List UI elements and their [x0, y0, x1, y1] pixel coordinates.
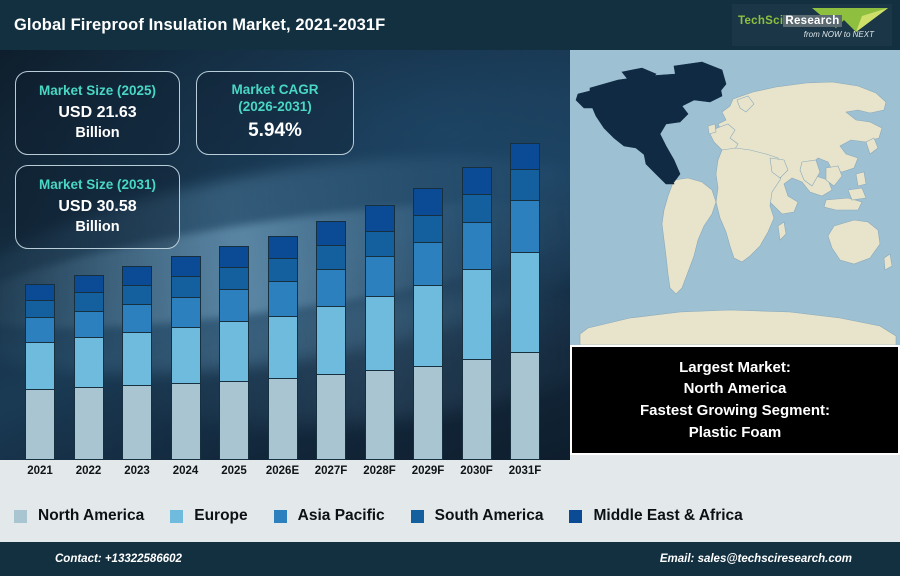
bar-segment-asia-pacific: [122, 304, 152, 333]
bar-segment-middle-east-africa: [268, 236, 298, 258]
bar-2022[interactable]: [74, 275, 104, 460]
bar-segment-north-america: [462, 359, 492, 460]
bar-segment-middle-east-africa: [510, 143, 540, 169]
bar-segment-south-america: [268, 258, 298, 281]
bar-segment-south-america: [365, 231, 395, 256]
legend-item-middle-east-africa[interactable]: Middle East & Africa: [569, 507, 742, 525]
bar-segment-north-america: [316, 374, 346, 460]
bar-segment-south-america: [122, 285, 152, 304]
bar-segment-europe: [268, 316, 298, 379]
callout-line-4: Plastic Foam: [689, 422, 782, 444]
brand-logo: TechSciResearch from NOW to NEXT: [732, 4, 892, 46]
brand-name-tech: TechSci: [738, 15, 783, 27]
bar-segment-europe: [510, 252, 540, 353]
bar-segment-north-america: [219, 381, 249, 460]
bar-segment-europe: [316, 306, 346, 374]
bar-2027F[interactable]: [316, 221, 346, 460]
legend-label: South America: [435, 507, 544, 525]
bar-segment-north-america: [268, 378, 298, 460]
bar-segment-north-america: [413, 366, 443, 460]
kpi-value: USD 30.58: [58, 197, 136, 218]
bar-segment-south-america: [413, 215, 443, 242]
bar-segment-north-america: [365, 370, 395, 460]
legend-swatch-icon: [14, 510, 27, 523]
bar-segment-middle-east-africa: [462, 167, 492, 194]
legend-swatch-icon: [274, 510, 287, 523]
callout-line-1: Largest Market:: [679, 357, 791, 379]
bar-segment-south-america: [510, 169, 540, 199]
bar-segment-south-america: [171, 276, 201, 297]
bar-segment-europe: [74, 337, 104, 387]
callout-line-3: Fastest Growing Segment:: [640, 400, 830, 422]
insight-callout: Largest Market: North America Fastest Gr…: [570, 345, 900, 455]
legend-label: Europe: [194, 507, 247, 525]
chart-legend: North AmericaEuropeAsia PacificSouth Ame…: [0, 490, 900, 542]
kpi-value: 5.94%: [248, 119, 302, 144]
x-axis-labels: 202120222023202420252026E2027F2028F2029F…: [0, 460, 570, 490]
bar-2030F[interactable]: [462, 167, 492, 460]
brand-wordmark: TechSciResearch: [738, 15, 842, 27]
legend-item-asia-pacific[interactable]: Asia Pacific: [274, 507, 385, 525]
kpi-unit: Billion: [75, 124, 119, 143]
footer-contact: Contact: +13322586602: [0, 553, 182, 565]
bar-segment-middle-east-africa: [219, 246, 249, 267]
bar-segment-asia-pacific: [25, 317, 55, 341]
bar-segment-south-america: [316, 245, 346, 269]
bar-2025[interactable]: [219, 246, 249, 460]
bar-segment-europe: [462, 269, 492, 359]
bar-2024[interactable]: [171, 256, 201, 460]
legend-item-north-america[interactable]: North America: [14, 507, 144, 525]
map-british-isles: [708, 124, 716, 134]
bar-segment-south-america: [462, 194, 492, 222]
bar-segment-middle-east-africa: [171, 256, 201, 276]
kpi-label: Market Size (2031): [39, 177, 156, 193]
bar-2021[interactable]: [25, 284, 55, 460]
page-title: Global Fireproof Insulation Market, 2021…: [0, 16, 385, 35]
kpi-label: Market Size (2025): [39, 83, 156, 99]
bar-segment-europe: [365, 296, 395, 370]
bar-segment-europe: [25, 342, 55, 389]
bar-segment-north-america: [122, 385, 152, 460]
bar-segment-asia-pacific: [74, 311, 104, 337]
bar-segment-south-america: [219, 267, 249, 289]
bar-segment-asia-pacific: [365, 256, 395, 296]
footer-bar: Contact: +13322586602 Email: sales@techs…: [0, 542, 900, 576]
footer-email: Email: sales@techsciresearch.com: [660, 553, 900, 565]
axis-label-2031F: 2031F: [495, 465, 555, 477]
bar-segment-middle-east-africa: [74, 275, 104, 292]
kpi-market-size-2025: Market Size (2025) USD 21.63 Billion: [15, 71, 180, 155]
bar-segment-middle-east-africa: [413, 188, 443, 215]
bar-segment-asia-pacific: [268, 281, 298, 316]
infographic-page: Global Fireproof Insulation Market, 2021…: [0, 0, 900, 576]
bar-segment-europe: [219, 321, 249, 380]
legend-label: Middle East & Africa: [593, 507, 742, 525]
legend-label: Asia Pacific: [298, 507, 385, 525]
bar-segment-asia-pacific: [510, 200, 540, 252]
bar-2031F[interactable]: [510, 143, 540, 460]
kpi-market-cagr: Market CAGR (2026-2031) 5.94%: [196, 71, 354, 155]
bar-segment-asia-pacific: [462, 222, 492, 269]
bar-2029F[interactable]: [413, 188, 443, 460]
world-map: [570, 50, 900, 345]
bar-segment-south-america: [74, 292, 104, 310]
bar-2026E[interactable]: [268, 236, 298, 460]
bar-segment-middle-east-africa: [316, 221, 346, 245]
kpi-label: Market CAGR: [231, 82, 318, 98]
bar-segment-europe: [413, 285, 443, 366]
legend-swatch-icon: [411, 510, 424, 523]
kpi-value: USD 21.63: [58, 103, 136, 124]
brand-tagline: from NOW to NEXT: [804, 30, 874, 39]
bar-segment-middle-east-africa: [25, 284, 55, 300]
bar-segment-europe: [171, 327, 201, 382]
legend-item-south-america[interactable]: South America: [411, 507, 544, 525]
kpi-market-size-2031: Market Size (2031) USD 30.58 Billion: [15, 165, 180, 249]
bar-segment-asia-pacific: [413, 242, 443, 285]
brand-name-research: Research: [783, 15, 841, 27]
bar-segment-north-america: [25, 389, 55, 460]
legend-item-europe[interactable]: Europe: [170, 507, 247, 525]
bar-segment-middle-east-africa: [122, 266, 152, 285]
bar-segment-europe: [122, 332, 152, 384]
bar-2028F[interactable]: [365, 205, 395, 460]
kpi-sublabel: (2026-2031): [238, 99, 312, 115]
kpi-unit: Billion: [75, 218, 119, 237]
bar-segment-asia-pacific: [219, 289, 249, 322]
bar-segment-north-america: [171, 383, 201, 460]
world-map-svg: [570, 50, 900, 345]
header-bar: Global Fireproof Insulation Market, 2021…: [0, 0, 900, 50]
bar-segment-north-america: [510, 352, 540, 460]
bar-2023[interactable]: [122, 266, 152, 460]
bar-segment-asia-pacific: [171, 297, 201, 328]
legend-swatch-icon: [170, 510, 183, 523]
map-philippines: [856, 172, 866, 186]
bar-segment-asia-pacific: [316, 269, 346, 306]
bar-segment-middle-east-africa: [365, 205, 395, 231]
callout-line-2: North America: [684, 378, 787, 400]
legend-swatch-icon: [569, 510, 582, 523]
bar-segment-north-america: [74, 387, 104, 460]
bar-segment-south-america: [25, 300, 55, 318]
legend-label: North America: [38, 507, 144, 525]
